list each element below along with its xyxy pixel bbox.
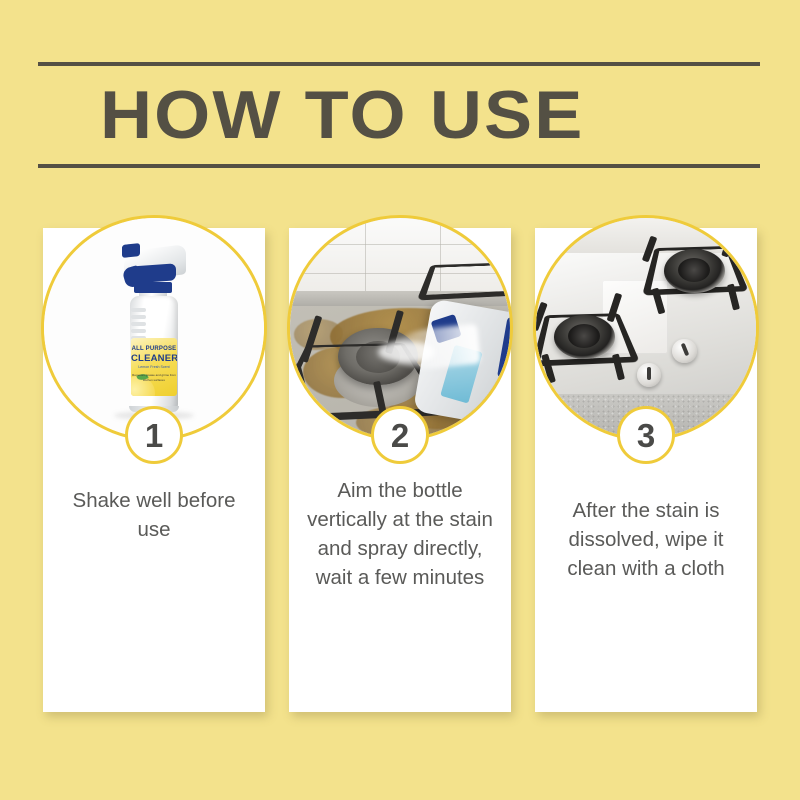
step-caption-1: Shake well before use [57, 486, 251, 544]
title-block: HOW TO USE [38, 62, 760, 168]
product-label-line4: Removes grease and grime from kitchen su… [131, 373, 177, 382]
product-label-line3: Lemon Fresh Scent [131, 366, 177, 370]
steps-row: ALL PURPOSE CLEANER Lemon Fresh Scent Re… [0, 228, 800, 718]
step-caption-3: After the stain is dissolved, wipe it cl… [549, 496, 743, 583]
title-rule-top [38, 62, 760, 66]
step-number-badge-2: 2 [371, 406, 429, 464]
title-rule-bottom [38, 164, 760, 168]
spray-bottle-photo: ALL PURPOSE CLEANER Lemon Fresh Scent Re… [44, 218, 264, 438]
product-label-line2: CLEANER [131, 354, 177, 364]
step-number-badge-3: 3 [617, 406, 675, 464]
product-label-line1: ALL PURPOSE [131, 346, 177, 352]
step-caption-2: Aim the bottle vertically at the stain a… [303, 476, 497, 592]
step-card-3[interactable]: 3 After the stain is dissolved, wipe it … [535, 228, 757, 712]
page-title: HOW TO USE [100, 76, 584, 154]
infographic-page: HOW TO USE [0, 0, 800, 800]
step-card-1[interactable]: ALL PURPOSE CLEANER Lemon Fresh Scent Re… [43, 228, 265, 712]
step-card-2[interactable]: 2 Aim the bottle vertically at the stain… [289, 228, 511, 712]
clean-stove-photo [536, 218, 756, 438]
stove-knob-right [672, 339, 696, 363]
dirty-stove-spraying-photo [290, 218, 510, 438]
step-number-badge-1: 1 [125, 406, 183, 464]
